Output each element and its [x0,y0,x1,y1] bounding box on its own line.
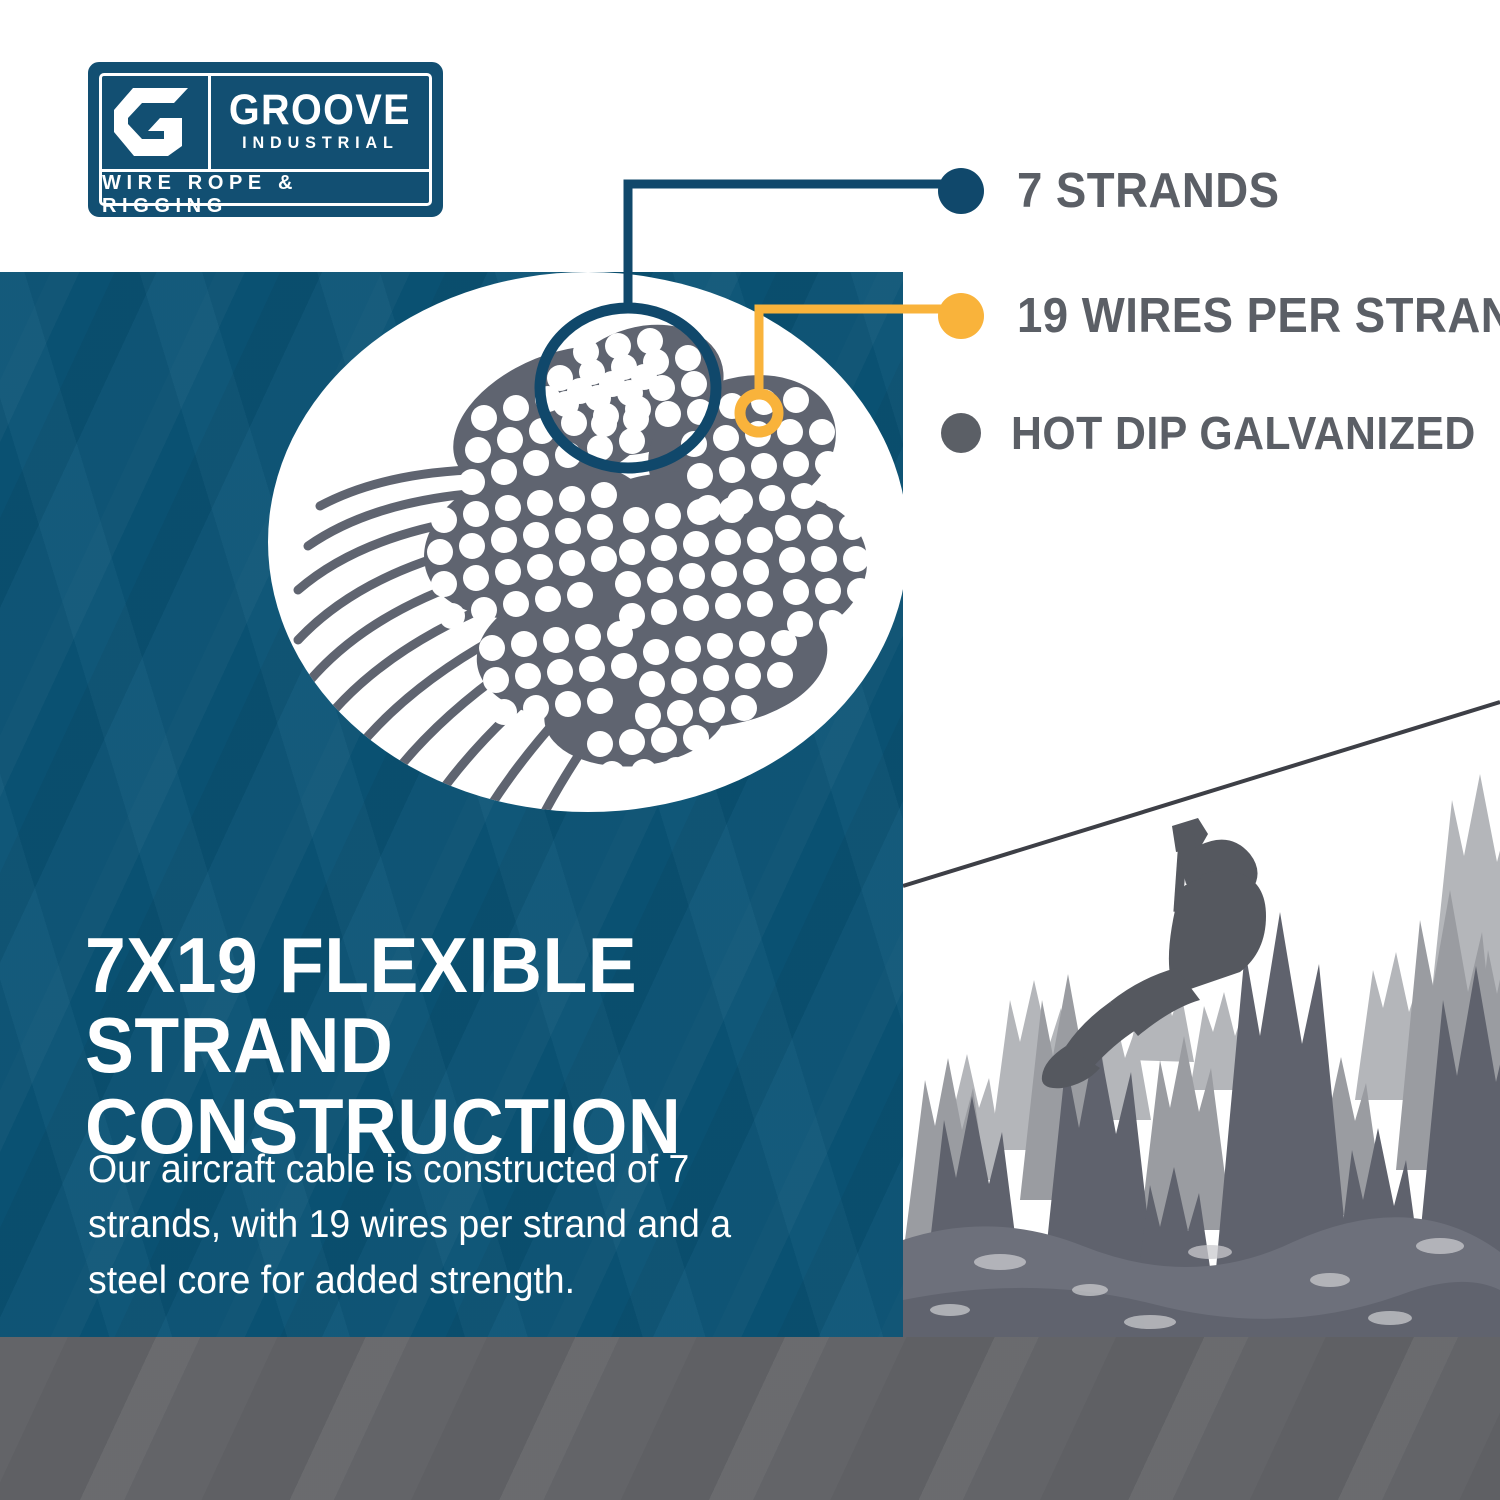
zipline-cable [903,702,1500,886]
headline: 7X19 FLEXIBLE STRAND CONSTRUCTION [85,925,828,1166]
band-wave-texture [0,1337,1500,1500]
forest-canopy-mass [903,1217,1500,1337]
logo-subname: INDUSTRIAL [242,133,399,153]
logo-top-row: GROOVE INDUSTRIAL [102,76,429,172]
callout-hot-dip-galvanized: HOT DIP GALVANIZED [938,406,1500,460]
forest-scene [903,702,1500,1337]
g-mark-svg [102,76,208,164]
body-copy: Our aircraft cable is constructed of 7 s… [88,1142,760,1308]
tree-layer-mid [905,890,1500,1240]
g-hexagon-icon [102,76,211,169]
logo-wordmark: GROOVE INDUSTRIAL [211,76,429,169]
callout-19-wires: 19 WIRES PER STRAND [938,288,1500,344]
canopy-speckles [930,1238,1464,1329]
brand-logo[interactable]: GROOVE INDUSTRIAL WIRE ROPE & RIGGING [88,62,443,217]
bottom-gray-band [0,1337,1500,1500]
forest-floor-mass [903,1282,1500,1337]
callout-7-strands: 7 STRANDS [938,163,1299,219]
headline-line-1: 7X19 FLEXIBLE [85,921,637,1009]
logo-frame: GROOVE INDUSTRIAL WIRE ROPE & RIGGING [99,73,432,206]
logo-name: GROOVE [229,90,411,130]
tree-layer-far [930,774,1500,1180]
logo-tagline: WIRE ROPE & RIGGING [102,172,429,218]
zipline-rider-silhouette [1042,818,1266,1088]
callout-label-wires: 19 WIRES PER STRAND [1017,288,1500,344]
tree-layer-near [920,912,1500,1335]
callout-dot-wires [938,293,984,339]
callout-label-strands: 7 STRANDS [1017,163,1279,219]
callout-label-galvanized: HOT DIP GALVANIZED [1011,406,1476,460]
logo-tagline-row: WIRE ROPE & RIGGING [102,172,429,218]
infographic-canvas: GROOVE INDUSTRIAL WIRE ROPE & RIGGING 7 … [0,0,1500,1500]
callout-dot-galvanized [941,413,981,453]
callout-dot-strands [938,168,984,214]
illustration-circle-backdrop [268,272,908,812]
